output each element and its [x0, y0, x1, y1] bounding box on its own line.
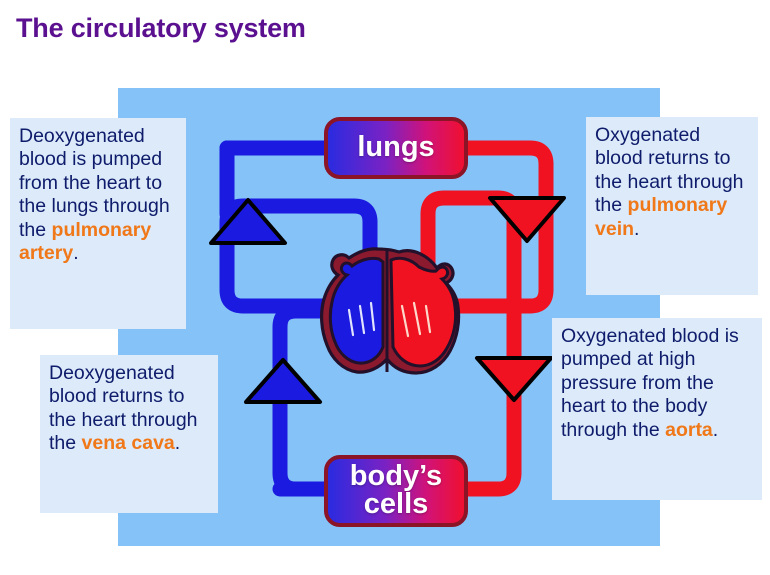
organ-label-lungs-text: lungs: [357, 133, 434, 163]
callout-aorta: Oxygenated blood is pumped at high press…: [552, 318, 762, 500]
callout-vena-cava-text-after: .: [175, 432, 180, 454]
callout-vena-cava-term: vena cava: [82, 432, 175, 454]
organ-label-body-cells: body’s cells: [324, 455, 468, 527]
callout-aorta-term: aorta: [665, 419, 713, 441]
vena-cava-arrow-icon: [246, 360, 320, 402]
organ-label-lungs: lungs: [324, 117, 468, 179]
callout-aorta-text-after: .: [713, 419, 718, 441]
callout-vena-cava: Deoxygenated blood returns to the heart …: [40, 355, 218, 513]
aorta-arrow-icon: [477, 358, 551, 400]
organ-label-body-cells-line2: cells: [364, 490, 429, 520]
callout-pulmonary-artery: Deoxygenated blood is pumped from the he…: [10, 118, 186, 329]
heart-illustration: [322, 249, 459, 373]
circulatory-system-diagram: The circulatory system: [0, 0, 770, 575]
callout-pulmonary-vein: Oxygenated blood returns to the heart th…: [586, 117, 758, 295]
heart-left-atrium-ventricle-oxygenated: [391, 258, 456, 366]
callout-pulmonary-vein-text-after: .: [634, 218, 639, 240]
callout-pulmonary-artery-text-after: .: [73, 242, 78, 264]
